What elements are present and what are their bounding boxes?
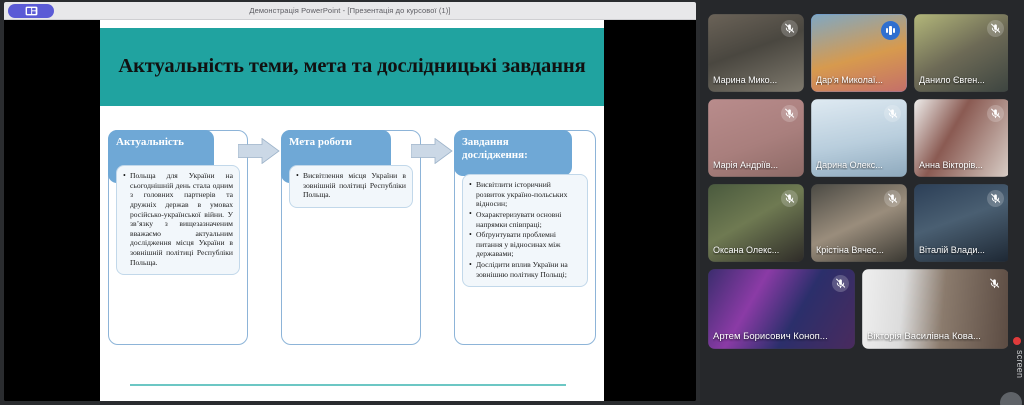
participant-row: Оксана Олекс...Крістіна Вячес...Віталій …	[708, 184, 1012, 262]
participant-name: Віталій Влади...	[919, 245, 1005, 255]
presentation-slide: Актуальність теми, мета та дослідницькі …	[100, 20, 604, 401]
arrow-right-icon	[238, 138, 280, 164]
mic-off-icon	[986, 275, 1003, 292]
participant-name: Марина Мико...	[713, 75, 799, 85]
mic-off-icon	[781, 105, 798, 122]
participant-tile[interactable]: Артем Борисович Коноп...	[708, 269, 855, 349]
process-box-list: Польща для України на сьогоднішній день …	[123, 171, 233, 267]
list-item: Висвітлити історичний розвиток україно-п…	[469, 180, 581, 209]
slide-title-banner: Актуальність теми, мета та дослідницькі …	[100, 28, 604, 106]
list-item: Дослідити вплив України на зовнішню полі…	[469, 260, 581, 279]
process-box-heading: Актуальність	[116, 136, 206, 149]
slide-divider-line	[130, 384, 566, 386]
process-box-body: Висвітлення місця України в зовнішній по…	[289, 165, 413, 208]
process-box-body: Висвітлити історичний розвиток україно-п…	[462, 174, 588, 287]
process-box-heading: Мета роботи	[289, 136, 383, 149]
participant-row: Марина Мико...Дар'я Миколаї...Данило Євг…	[708, 14, 1012, 92]
participant-tile[interactable]: Крістіна Вячес...	[811, 184, 907, 262]
meeting-screen-share-view: Демонстрація PowerPoint - [Презентація д…	[0, 0, 1024, 405]
participant-tile[interactable]: Дар'я Миколаї...	[811, 14, 907, 92]
mic-off-icon	[987, 105, 1004, 122]
powerpoint-title-text: Демонстрація PowerPoint - [Презентація д…	[249, 6, 450, 15]
participant-tile[interactable]: Оксана Олекс...	[708, 184, 804, 262]
control-bar-nub	[1000, 392, 1022, 405]
participant-name: Анна Вікторів...	[919, 160, 1005, 170]
recording-strip: screen	[1008, 0, 1024, 405]
recording-label: screen	[1015, 350, 1024, 378]
powerpoint-window: Демонстрація PowerPoint - [Презентація д…	[4, 2, 696, 401]
participant-tile[interactable]: Данило Євген...	[914, 14, 1010, 92]
participant-grid: Марина Мико...Дар'я Миколаї...Данило Євг…	[700, 0, 1024, 405]
mic-off-icon	[884, 105, 901, 122]
participant-name: Артем Борисович Коноп...	[713, 331, 850, 342]
list-item: Польща для України на сьогоднішній день …	[123, 171, 233, 267]
list-item: Охарактеризувати основні напрямки співпр…	[469, 210, 581, 229]
mic-off-icon	[884, 190, 901, 207]
mic-off-icon	[781, 20, 798, 37]
participant-tile[interactable]: Дарина Олекс...	[811, 99, 907, 177]
participant-name: Вікторія Василівна Кова...	[867, 331, 1004, 342]
slide-title: Актуальність теми, мета та дослідницькі …	[118, 53, 585, 80]
process-box-body: Польща для України на сьогоднішній день …	[116, 165, 240, 275]
process-box-heading: Завдання дослідження:	[462, 136, 564, 162]
list-item: Обґрунтувати проблемні питання у відноси…	[469, 230, 581, 259]
participant-name: Дарина Олекс...	[816, 160, 902, 170]
participant-rows: Марина Мико...Дар'я Миколаї...Данило Євг…	[708, 14, 1012, 349]
audio-level-icon	[881, 21, 900, 40]
participant-name: Оксана Олекс...	[713, 245, 799, 255]
process-box-list: Висвітлення місця України в зовнішній по…	[296, 171, 406, 200]
participant-name: Крістіна Вячес...	[816, 245, 902, 255]
participant-tile[interactable]: Вікторія Василівна Кова...	[862, 269, 1009, 349]
powerpoint-title-bar: Демонстрація PowerPoint - [Презентація д…	[4, 2, 696, 20]
participant-name: Марія Андріїв...	[713, 160, 799, 170]
arrow-right-icon	[411, 138, 453, 164]
slide-letterbox: Актуальність теми, мета та дослідницькі …	[4, 20, 696, 401]
participant-tile[interactable]: Марина Мико...	[708, 14, 804, 92]
participant-tile[interactable]: Віталій Влади...	[914, 184, 1010, 262]
mic-off-icon	[987, 190, 1004, 207]
participant-row: Артем Борисович Коноп...Вікторія Василів…	[708, 269, 1012, 349]
process-box-header: Завдання дослідження:	[454, 130, 572, 176]
mic-off-icon	[832, 275, 849, 292]
participant-name: Дар'я Миколаї...	[816, 75, 902, 85]
participant-tile[interactable]: Анна Вікторів...	[914, 99, 1010, 177]
process-box-list: Висвітлити історичний розвиток україно-п…	[469, 180, 581, 279]
participant-row: Марія Андріїв...Дарина Олекс...Анна Вікт…	[708, 99, 1012, 177]
participant-name: Данило Євген...	[919, 75, 1005, 85]
recording-indicator-dot	[1013, 337, 1021, 345]
mic-off-icon	[987, 20, 1004, 37]
mic-off-icon	[781, 190, 798, 207]
screen-share-pane: Демонстрація PowerPoint - [Презентація д…	[0, 0, 700, 405]
participant-tile[interactable]: Марія Андріїв...	[708, 99, 804, 177]
list-item: Висвітлення місця України в зовнішній по…	[296, 171, 406, 200]
presentation-icon	[8, 4, 54, 18]
